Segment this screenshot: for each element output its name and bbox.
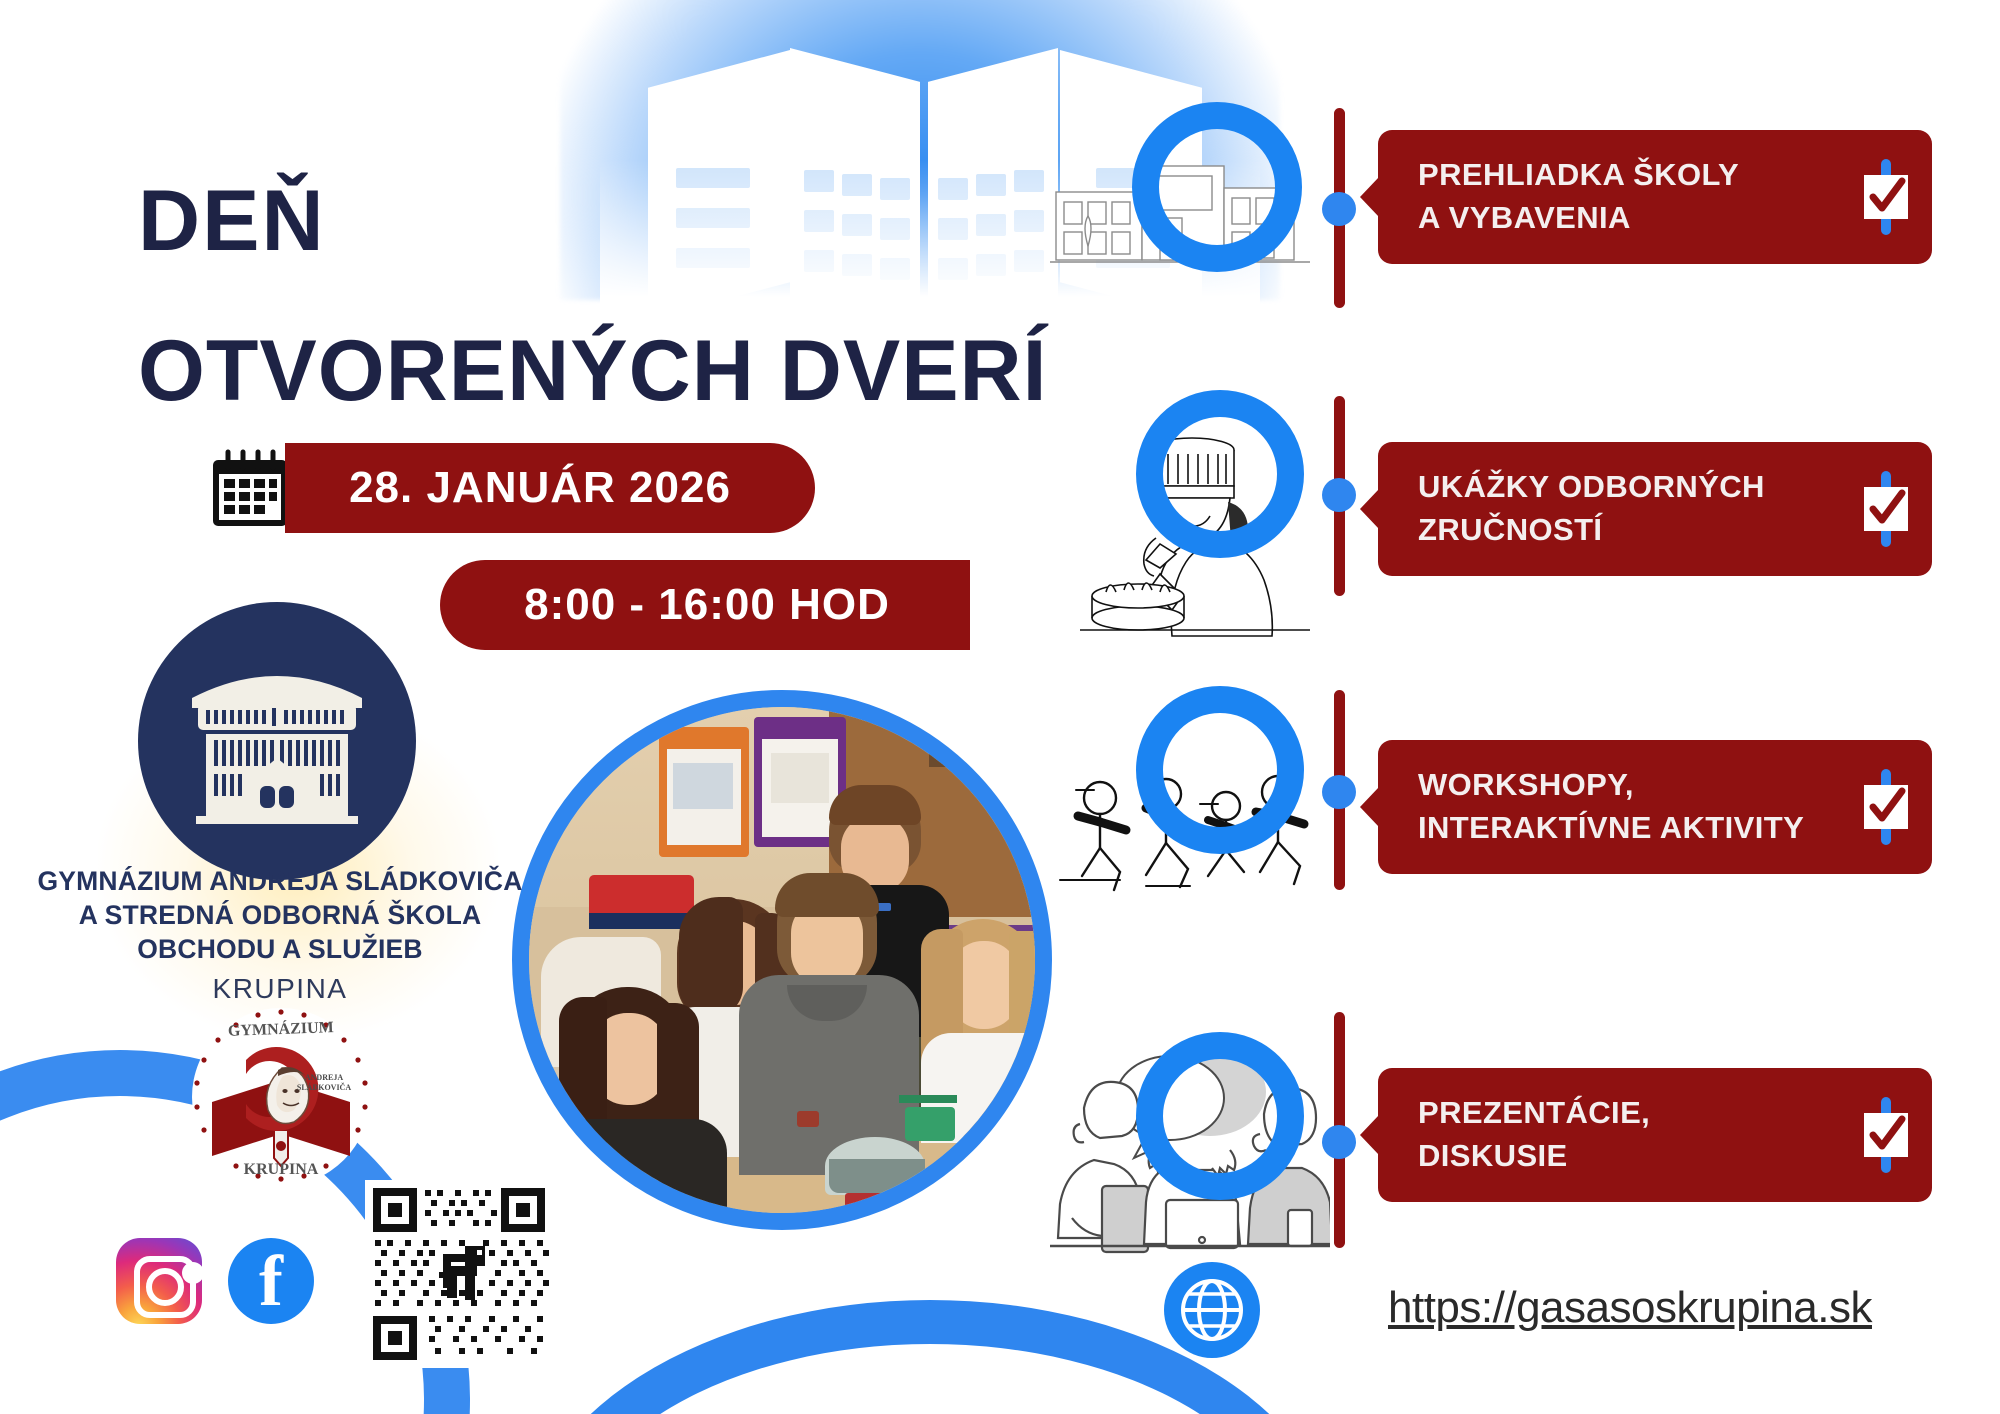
social-links: f (116, 1238, 314, 1324)
program-tag-4: PREZENTÁCIE, DISKUSIE (1378, 1068, 1932, 1202)
program-tag-3-line-1: WORKSHOPY, (1418, 764, 1838, 807)
program-tag-4-text: PREZENTÁCIE, DISKUSIE (1378, 1092, 1838, 1178)
program-tag-1-line-1: PREHLIADKA ŠKOLY (1418, 154, 1838, 197)
students-photo (512, 690, 1052, 1230)
school-name-line-3: OBCHODU A SLUŽIEB (20, 933, 540, 967)
facebook-icon[interactable]: f (228, 1238, 314, 1324)
checkbox-checked-icon (1864, 471, 1906, 547)
program-tag-3-line-2: INTERAKTÍVNE AKTIVITY (1418, 807, 1838, 850)
event-time-text: 8:00 - 16:00 HOD (524, 580, 890, 630)
program-tag-2-line-2: ZRUČNOSTÍ (1418, 509, 1838, 552)
program-tag-4-line-1: PREZENTÁCIE, (1418, 1092, 1838, 1135)
program-tag-2-text: UKÁŽKY ODBORNÝCH ZRUČNOSTÍ (1378, 466, 1838, 552)
blue-ring-1 (1132, 102, 1302, 272)
timeline-dot-2 (1322, 478, 1356, 512)
svg-text:SLÁDKOVIČA: SLÁDKOVIČA (297, 1082, 351, 1092)
blue-ring-2 (1136, 390, 1304, 558)
blue-ring-4 (1136, 1032, 1304, 1200)
qr-code[interactable] (365, 1180, 553, 1368)
program-tag-1-text: PREHLIADKA ŠKOLY A VYBAVENIA (1378, 154, 1838, 240)
event-date-pill: 28. JANUÁR 2026 (285, 443, 815, 533)
blue-ring-3 (1136, 686, 1304, 854)
school-building-icon (138, 602, 416, 880)
program-tag-1-line-2: A VYBAVENIA (1418, 197, 1838, 240)
checkbox-checked-icon (1864, 1097, 1906, 1173)
poster-headline: DEŇ OTVORENÝCH DVERÍ (138, 178, 1138, 414)
program-tag-1: PREHLIADKA ŠKOLY A VYBAVENIA (1378, 130, 1932, 264)
event-time-pill: 8:00 - 16:00 HOD (440, 560, 970, 650)
students-photo-content (529, 707, 1035, 1213)
globe-icon (1164, 1262, 1260, 1358)
website-url-link[interactable]: https://gasasoskrupina.sk (1388, 1283, 1872, 1333)
facebook-f-glyph: f (228, 1238, 314, 1324)
program-tag-2: UKÁŽKY ODBORNÝCH ZRUČNOSTÍ (1378, 442, 1932, 576)
checkbox-checked-icon (1864, 159, 1906, 235)
program-tag-3: WORKSHOPY, INTERAKTÍVNE AKTIVITY (1378, 740, 1932, 874)
program-tag-3-text: WORKSHOPY, INTERAKTÍVNE AKTIVITY (1378, 764, 1838, 850)
instagram-icon[interactable] (116, 1238, 202, 1324)
headline-line-2: OTVORENÝCH DVERÍ (138, 328, 1138, 414)
calendar-icon (205, 444, 295, 534)
headline-line-1: DEŇ (138, 178, 1138, 264)
timeline-dot-1 (1322, 192, 1356, 226)
school-name-line-2: A STREDNÁ ODBORNÁ ŠKOLA (20, 899, 540, 933)
poster-root: DEŇ OTVORENÝCH DVERÍ 28. JA (0, 0, 2000, 1414)
program-tag-2-line-1: UKÁŽKY ODBORNÝCH (1418, 466, 1838, 509)
svg-text:KRUPINA: KRUPINA (244, 1161, 319, 1178)
school-name-line-1: GYMNÁZIUM ANDREJA SLÁDKOVIČA (20, 865, 540, 899)
school-name-block: GYMNÁZIUM ANDREJA SLÁDKOVIČA A STREDNÁ O… (20, 865, 540, 1005)
svg-text:ANDREJA: ANDREJA (305, 1073, 343, 1082)
checkbox-checked-icon (1864, 769, 1906, 845)
program-tag-4-line-2: DISKUSIE (1418, 1135, 1838, 1178)
school-crest-seal: GYMNÁZIUM KRUPINA ANDREJA SLÁDKOVIČA (190, 1006, 372, 1188)
event-date-text: 28. JANUÁR 2026 (349, 463, 731, 513)
school-city: KRUPINA (20, 973, 540, 1005)
